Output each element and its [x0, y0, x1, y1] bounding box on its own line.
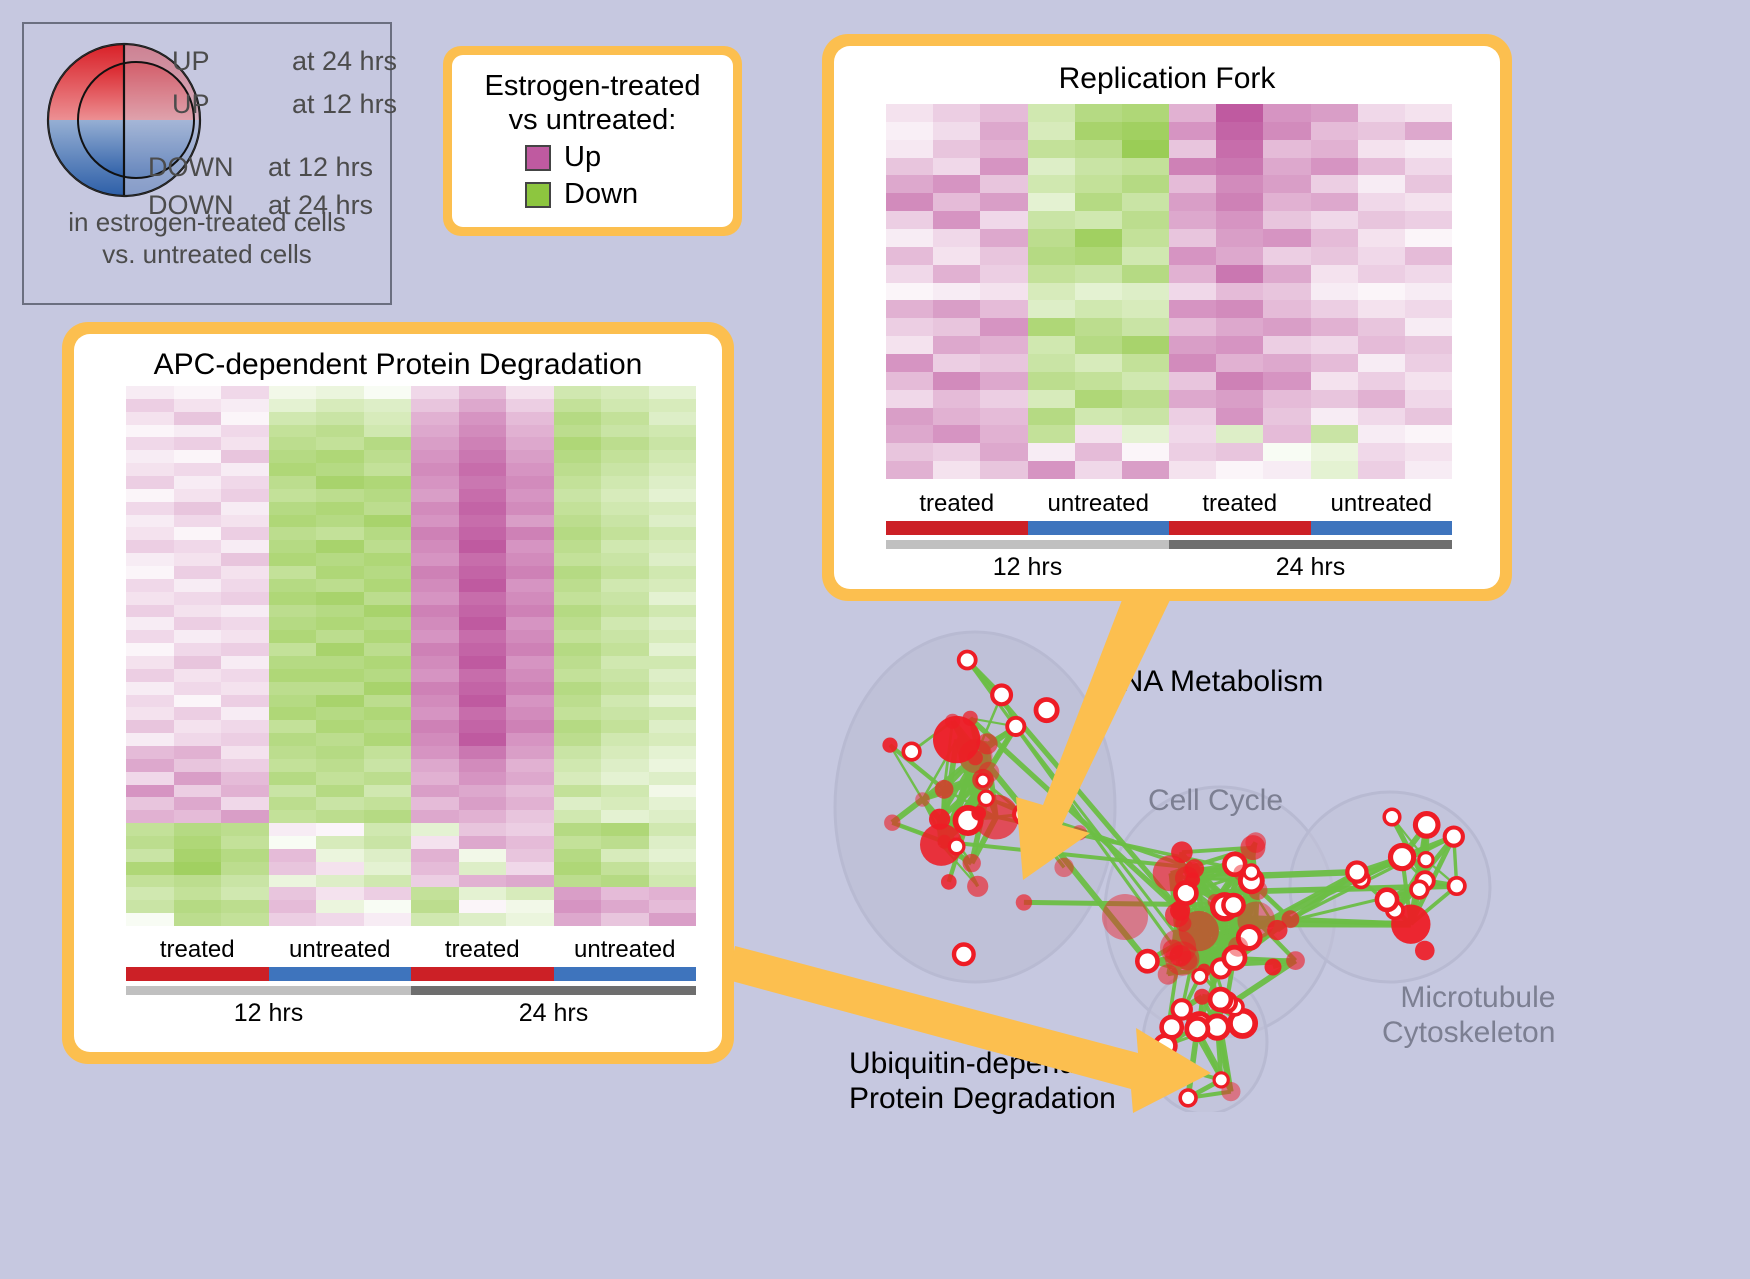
heatmap-cell [649, 540, 697, 553]
heatmap-cell [1263, 318, 1310, 336]
heatmap-cell [126, 617, 174, 630]
heatmap-cell [269, 746, 317, 759]
key-row-2-label: DOWN [148, 152, 268, 183]
heatmap-cell [126, 450, 174, 463]
network-node [1244, 865, 1258, 879]
heatmap-cell [1358, 104, 1405, 122]
heatmap-cell [126, 785, 174, 798]
network-node [1014, 805, 1033, 824]
heatmap-cell [174, 746, 222, 759]
heatmap-cell [1358, 122, 1405, 140]
heatmap-cell [980, 122, 1027, 140]
heatmap-cell [649, 553, 697, 566]
heatmap-cell [221, 707, 269, 720]
heatmap-cell [1263, 461, 1310, 479]
key-row-0-label: UP [172, 46, 292, 77]
heatmap-cell [316, 797, 364, 810]
heatmap-cell [1263, 354, 1310, 372]
heatmap-cell [649, 682, 697, 695]
heatmap-cell [126, 630, 174, 643]
network-label-dna-metabolism: DNA Metabolism [1100, 664, 1323, 699]
heatmap-cell [1311, 443, 1358, 461]
legend-label-up: Up [564, 141, 660, 174]
heatmap-cell [554, 592, 602, 605]
heatmap-cell [933, 122, 980, 140]
heatmap-cell [1216, 354, 1263, 372]
heatmap-cell [649, 476, 697, 489]
heatmap-cell [269, 437, 317, 450]
heatmap-cell [411, 656, 459, 669]
heatmap-cell [1169, 193, 1216, 211]
heatmap-cell [601, 707, 649, 720]
heatmap-cell [316, 553, 364, 566]
axis-group-2: treated [411, 936, 554, 964]
heatmap-cell [554, 759, 602, 772]
network-node [1267, 920, 1287, 940]
heatmap-cell [1169, 283, 1216, 301]
heatmap-cell [933, 158, 980, 176]
heatmap-cell [221, 399, 269, 412]
heatmap-cell [459, 579, 507, 592]
network-node [1347, 863, 1366, 882]
heatmap-cell [1122, 354, 1169, 372]
network-node [1265, 959, 1282, 976]
heatmap-cell [269, 785, 317, 798]
heatmap-cell [649, 425, 697, 438]
heatmap-cell [601, 810, 649, 823]
heatmap-cell [1263, 140, 1310, 158]
network-node [1377, 890, 1397, 910]
heatmap-cell [174, 579, 222, 592]
heatmap-cell [506, 823, 554, 836]
heatmap-cell [1169, 229, 1216, 247]
heatmap-cell [411, 425, 459, 438]
heatmap-cell [1075, 425, 1122, 443]
heatmap-cell [411, 527, 459, 540]
heatmap-cell [1075, 122, 1122, 140]
heatmap-cell [933, 229, 980, 247]
heatmap-cell [1358, 265, 1405, 283]
heatmap-cell [411, 720, 459, 733]
heatmap-cell [221, 476, 269, 489]
heatmap-cell [174, 733, 222, 746]
heatmap-cell [980, 318, 1027, 336]
heatmap-cell [1405, 122, 1452, 140]
heatmap-cell [886, 211, 933, 229]
heatmap-cell [221, 450, 269, 463]
heatmap-cell [316, 540, 364, 553]
legend-entry-up: Up [462, 141, 723, 174]
heatmap-cell [933, 104, 980, 122]
heatmap-cell [174, 862, 222, 875]
heatmap-cell [221, 759, 269, 772]
heatmap-cell [649, 412, 697, 425]
heatmap-cell [174, 489, 222, 502]
heatmap-cell [269, 450, 317, 463]
network-node [915, 792, 930, 807]
heatmap-cell [221, 682, 269, 695]
heatmap-cell [126, 810, 174, 823]
heatmap-cell [933, 443, 980, 461]
heatmap-cell [1263, 193, 1310, 211]
heatmap-cell [126, 772, 174, 785]
heatmap-cell [1075, 300, 1122, 318]
heatmap-cell [1311, 229, 1358, 247]
condition-bar-2 [1169, 521, 1311, 535]
heatmap-cell [554, 695, 602, 708]
heatmap-cell [411, 862, 459, 875]
axis-replication-fork: treated untreated treated untreated 12 h [886, 490, 1452, 582]
heatmap-cell [1169, 300, 1216, 318]
heatmap-cell [506, 720, 554, 733]
heatmap-cell [411, 540, 459, 553]
heatmap-cell [459, 656, 507, 669]
heatmap-cell [459, 695, 507, 708]
axis-condition-bar [886, 521, 1452, 535]
axis-time-0: 12 hrs [886, 553, 1169, 582]
heatmap-cell [1028, 318, 1075, 336]
heatmap-cell [126, 695, 174, 708]
network-node [968, 750, 983, 765]
heatmap-cell [126, 682, 174, 695]
heatmap-cell [364, 862, 412, 875]
heatmap-cell [886, 175, 933, 193]
heatmap-cell [174, 797, 222, 810]
heatmap-cell [601, 823, 649, 836]
heatmap-cell [316, 875, 364, 888]
heatmap-cell [221, 553, 269, 566]
condition-bar-1 [269, 967, 412, 981]
heatmap-cell [506, 810, 554, 823]
heatmap-cell [649, 746, 697, 759]
heatmap-cell [554, 425, 602, 438]
heatmap-cell [601, 772, 649, 785]
network-node [1170, 900, 1190, 920]
heatmap-cell [1122, 229, 1169, 247]
heatmap-cell [933, 336, 980, 354]
heatmap-cell [1311, 122, 1358, 140]
heatmap-cell [1075, 247, 1122, 265]
time-bar-1 [411, 986, 696, 995]
heatmap-cell [364, 707, 412, 720]
heatmap-cell [506, 566, 554, 579]
heatmap-cell [1358, 318, 1405, 336]
heatmap-cell [649, 515, 697, 528]
heatmap-cell [554, 643, 602, 656]
heatmap-cell [126, 862, 174, 875]
legend-title-line1: Estrogen-treated [462, 69, 723, 103]
heatmap-cell [601, 412, 649, 425]
heatmap-cell [459, 810, 507, 823]
heatmap-cell [316, 489, 364, 502]
heatmap-cell [886, 390, 933, 408]
key-row-1: UP at 12 hrs [172, 89, 397, 120]
network-node [945, 714, 960, 729]
network-node [949, 839, 964, 854]
heatmap-cell [506, 399, 554, 412]
heatmap-cell [1122, 300, 1169, 318]
network-node [1445, 828, 1463, 846]
heatmap-cell [506, 746, 554, 759]
network-node [1159, 1055, 1180, 1076]
heatmap-cell [364, 605, 412, 618]
heatmap-cell [126, 476, 174, 489]
condition-bar-0 [126, 967, 269, 981]
heatmap-cell [554, 553, 602, 566]
heatmap-cell [269, 862, 317, 875]
network-label-microtubule: Microtubule Cytoskeleton [1382, 980, 1555, 1051]
heatmap-cell [221, 579, 269, 592]
heatmap-cell [649, 527, 697, 540]
axis-group-names: treated untreated treated untreated [886, 490, 1452, 518]
heatmap-cell [221, 643, 269, 656]
heatmap-cell [1122, 425, 1169, 443]
heatmap-cell [1216, 104, 1263, 122]
heatmap-cell [1075, 318, 1122, 336]
heatmap-cell [364, 823, 412, 836]
heatmap-cell [411, 913, 459, 926]
heatmap-cell [601, 759, 649, 772]
heatmap-cell [554, 566, 602, 579]
heatmap-cell [1216, 140, 1263, 158]
heatmap-cell [980, 140, 1027, 158]
heatmap-cell [1122, 318, 1169, 336]
heatmap-cell [126, 489, 174, 502]
heatmap-cell [649, 913, 697, 926]
heatmap-cell [1169, 140, 1216, 158]
heatmap-cell [316, 836, 364, 849]
heatmap-cell [364, 489, 412, 502]
heatmap-cell [1169, 461, 1216, 479]
heatmap-cell [980, 336, 1027, 354]
network-node [992, 686, 1011, 705]
heatmap-cell [1169, 318, 1216, 336]
heatmap-cell [601, 540, 649, 553]
heatmap-cell [1028, 211, 1075, 229]
heatmap-cell [601, 643, 649, 656]
heatmap-cell [554, 656, 602, 669]
heatmap-cell [554, 720, 602, 733]
heatmap-cell [886, 354, 933, 372]
heatmap-cell [1028, 247, 1075, 265]
heatmap-cell [126, 437, 174, 450]
heatmap-cell [506, 463, 554, 476]
heatmap-cell [221, 797, 269, 810]
heatmap-cell [649, 785, 697, 798]
heatmap-cell [1263, 443, 1310, 461]
heatmap-cell [174, 425, 222, 438]
heatmap-cell [316, 707, 364, 720]
heatmap-cell [1216, 372, 1263, 390]
heatmap-cell [316, 785, 364, 798]
network-node [935, 780, 954, 799]
heatmap-cell [649, 669, 697, 682]
heatmap-cell [1405, 211, 1452, 229]
heatmap-cell [411, 412, 459, 425]
network-node [1391, 846, 1414, 869]
heatmap-cell [506, 579, 554, 592]
heatmap-cell [1028, 229, 1075, 247]
heatmap-cell [1311, 461, 1358, 479]
heatmap-cell [364, 412, 412, 425]
heatmap-cell [316, 476, 364, 489]
heatmap-cell [1263, 122, 1310, 140]
heatmap-cell [269, 566, 317, 579]
network-node [1223, 895, 1243, 915]
heatmap-cell [601, 720, 649, 733]
heatmap-cell [1169, 104, 1216, 122]
heatmap-cell [554, 463, 602, 476]
heatmap-cell [1122, 443, 1169, 461]
heatmap-cell [126, 849, 174, 862]
heatmap-cell [980, 193, 1027, 211]
heatmap-cell [126, 823, 174, 836]
heatmap-cell [601, 746, 649, 759]
heatmap-cell [269, 669, 317, 682]
color-key-footer-line2: vs. untreated cells [24, 239, 390, 271]
time-bar-1 [1169, 540, 1452, 549]
heatmap-cell [1405, 229, 1452, 247]
heatmap-cell [459, 875, 507, 888]
heatmap-cell [506, 592, 554, 605]
heatmap-cell [221, 887, 269, 900]
heatmap-cell [554, 515, 602, 528]
heatmap-cell [980, 265, 1027, 283]
updown-legend-card: Estrogen-treated vs untreated: Up Down [443, 46, 742, 236]
color-key-box: UP at 24 hrs UP at 12 hrs DOWN at 12 hrs… [22, 22, 392, 305]
heatmap-cell [269, 592, 317, 605]
heatmap-cell [269, 682, 317, 695]
axis-condition-bar [126, 967, 696, 981]
heatmap-cell [506, 759, 554, 772]
network-node [929, 809, 950, 830]
heatmap-cell [269, 553, 317, 566]
heatmap-cell [1028, 354, 1075, 372]
heatmap-cell [411, 849, 459, 862]
heatmap-cell [221, 540, 269, 553]
heatmap-cell [269, 412, 317, 425]
heatmap-cell [1358, 211, 1405, 229]
heatmap-cell [126, 592, 174, 605]
heatmap-cell [174, 617, 222, 630]
heatmap-cell [1405, 443, 1452, 461]
heatmap-cell [506, 502, 554, 515]
heatmap-cell [174, 476, 222, 489]
heatmap-cell [126, 540, 174, 553]
heatmap-cell [174, 849, 222, 862]
heatmap-cell [364, 463, 412, 476]
heatmap-cell [1263, 229, 1310, 247]
heatmap-cell [221, 425, 269, 438]
heatmap-cell [1028, 265, 1075, 283]
condition-bar-3 [554, 967, 697, 981]
heatmap-cell [221, 836, 269, 849]
heatmap-cell [1216, 283, 1263, 301]
heatmap-cell [1075, 158, 1122, 176]
heatmap-cell [1122, 336, 1169, 354]
heatmap-cell [459, 836, 507, 849]
heatmap-cell [980, 247, 1027, 265]
heatmap-cell [1263, 390, 1310, 408]
heatmap-cell [411, 437, 459, 450]
heatmap-cell [174, 566, 222, 579]
heatmap-cell [1311, 140, 1358, 158]
heatmap-cell [126, 579, 174, 592]
heatmap-cell [506, 887, 554, 900]
heatmap-cell [364, 772, 412, 785]
heatmap-cell [221, 592, 269, 605]
heatmap-cell [364, 887, 412, 900]
network-node [963, 854, 981, 872]
heatmap-cell [364, 527, 412, 540]
heatmap-cell [174, 605, 222, 618]
heatmap-cell [459, 669, 507, 682]
heatmap-cell [601, 682, 649, 695]
heatmap-cell [316, 437, 364, 450]
heatmap-cell [1075, 443, 1122, 461]
heatmap-cell [459, 399, 507, 412]
heatmap-cell [1216, 318, 1263, 336]
heatmap-cell [554, 810, 602, 823]
heatmap-cell [601, 630, 649, 643]
heatmap-cell [1263, 158, 1310, 176]
heatmap-cell [601, 785, 649, 798]
heatmap-cell [411, 399, 459, 412]
heatmap-cell [459, 476, 507, 489]
heatmap-cell [174, 682, 222, 695]
heatmap-cell [316, 810, 364, 823]
heatmap-cell [601, 605, 649, 618]
network-node [959, 652, 976, 669]
heatmap-cell [506, 540, 554, 553]
heatmap-cell [126, 643, 174, 656]
heatmap-cell [554, 617, 602, 630]
heatmap-cell [554, 836, 602, 849]
heatmap-cell [933, 461, 980, 479]
heatmap-cell [1358, 372, 1405, 390]
network-node [1419, 853, 1433, 867]
heatmap-cell [1122, 390, 1169, 408]
heatmap-cell [126, 386, 174, 399]
heatmap-cell [886, 283, 933, 301]
heatmap-cell [601, 913, 649, 926]
heatmap-cell [601, 656, 649, 669]
heatmap-cell [886, 408, 933, 426]
heatmap-cell [459, 515, 507, 528]
heatmap-cell [1028, 408, 1075, 426]
heatmap-cell [269, 875, 317, 888]
heatmap-cell [364, 695, 412, 708]
heatmap-cell [886, 425, 933, 443]
network-node [1194, 989, 1210, 1005]
heatmap-cell [1216, 193, 1263, 211]
heatmap-cell [1405, 372, 1452, 390]
heatmap-cell [886, 336, 933, 354]
heatmap-cell [1216, 408, 1263, 426]
heatmap-cell [649, 566, 697, 579]
heatmap-cell [1169, 158, 1216, 176]
heatmap-cell [980, 425, 1027, 443]
heatmap-cell [174, 772, 222, 785]
heatmap-cell [411, 887, 459, 900]
heatmap-cell [554, 579, 602, 592]
axis-group-names: treated untreated treated untreated [126, 936, 696, 964]
heatmap-cell [554, 772, 602, 785]
heatmap-cell [886, 104, 933, 122]
heatmap-cell [1405, 390, 1452, 408]
heatmap-cell [649, 836, 697, 849]
heatmap-cell [174, 386, 222, 399]
